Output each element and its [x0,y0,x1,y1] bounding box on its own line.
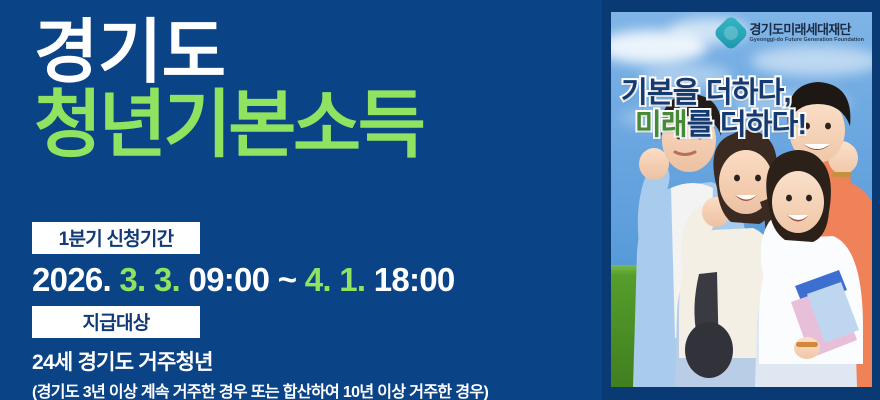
period-separator: ~ [278,261,297,298]
students-photo [611,12,872,387]
eligibility-block: 지급대상 24세 경기도 거주청년 (경기도 3년 이상 계속 거주한 경우 또… [32,306,488,400]
period-end-time: 18:00 [374,261,455,298]
period-date-line: 2026. 3. 3. 09:00 ~ 4. 1. 18:00 [32,261,455,299]
slogan-line-2: 미래를 더하다! [635,110,806,140]
foundation-logo: 경기도미래세대재단 Gyeonggi-do Future Generation … [718,20,864,46]
left-text-column: 경기도 청년기본소득 1분기 신청기간 2026. 3. 3. 09:00 ~ … [0,0,600,400]
target-badge: 지급대상 [32,306,200,338]
period-start-date: 3. 3. [119,261,180,298]
slogan: 기본을 더하다, 미래를 더하다! [621,78,806,140]
target-sub-text: (경기도 3년 이상 계속 거주한 경우 또는 합산하여 10년 이상 거주한 … [32,378,488,400]
headline-line-1: 경기도 [34,18,423,87]
slogan-line-1: 기본을 더하다, [621,78,806,108]
period-badge: 1분기 신청기간 [32,222,200,254]
promo-banner: 경기도 청년기본소득 1분기 신청기간 2026. 3. 3. 09:00 ~ … [0,0,880,400]
slogan-line-2-green: 미래 [635,109,687,141]
target-main-text: 24세 경기도 거주청년 [32,346,488,376]
period-year: 2026. [32,261,111,298]
logo-text-group: 경기도미래세대재단 Gyeonggi-do Future Generation … [750,23,864,43]
period-end-date: 4. 1. [305,261,366,298]
application-period-block: 1분기 신청기간 2026. 3. 3. 09:00 ~ 4. 1. 18:00 [32,222,455,299]
logo-subtitle: Gyeonggi-do Future Generation Foundation [750,38,864,43]
period-start-time: 09:00 [188,261,269,298]
photo-scene: 경기도미래세대재단 Gyeonggi-do Future Generation … [611,12,872,387]
page-title: 경기도 청년기본소득 [34,18,423,161]
photo-panel: 경기도미래세대재단 Gyeonggi-do Future Generation … [602,0,880,400]
rounded-diamond-mark-icon [712,15,749,52]
headline-line-2: 청년기본소득 [34,89,423,162]
slogan-line-2-rest: 를 더하다! [687,109,807,141]
logo-title: 경기도미래세대재단 [750,23,864,36]
